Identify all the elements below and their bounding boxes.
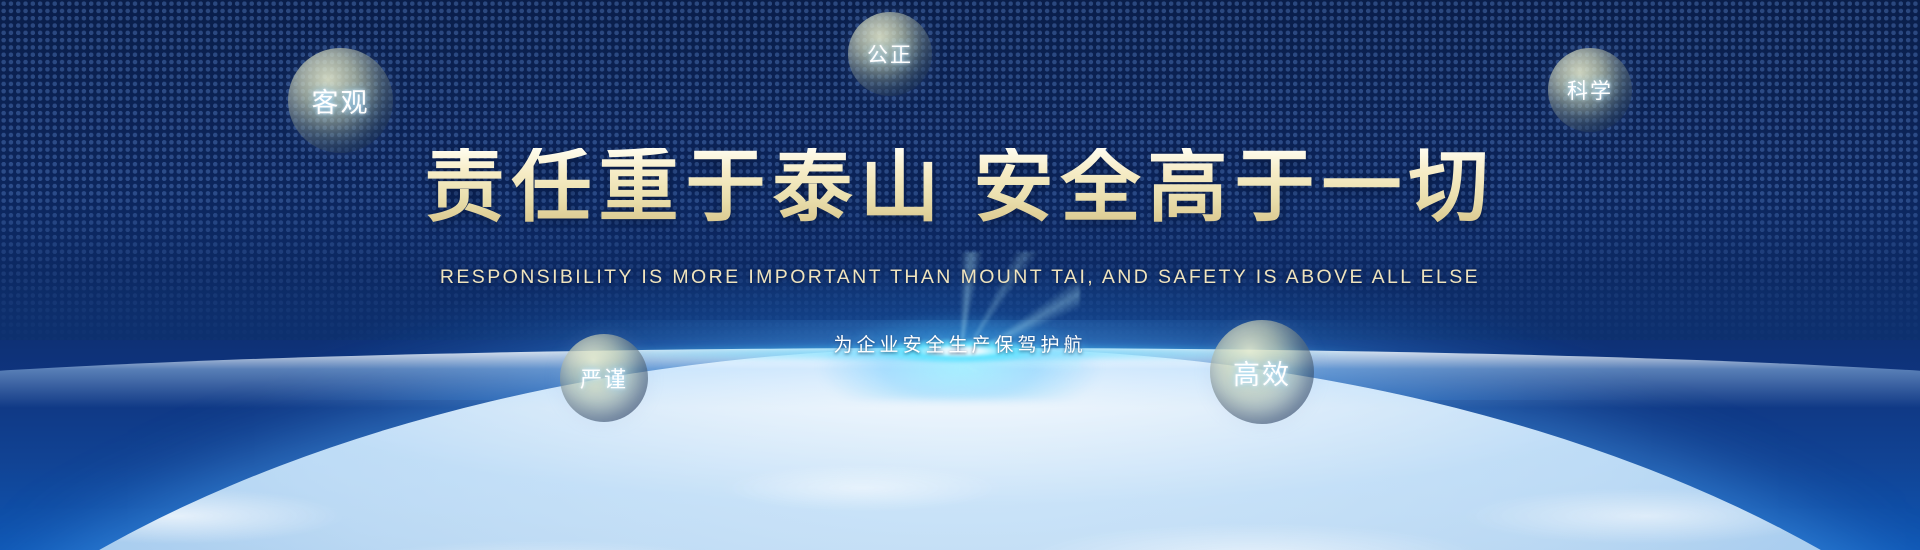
badge-label: 公正 xyxy=(867,39,913,69)
hero-banner: 责任重于泰山 安全高于一切 RESPONSIBILITY IS MORE IMP… xyxy=(0,0,1920,550)
badge-label: 客观 xyxy=(312,81,370,120)
subtitle-chinese: 为企业安全生产保驾护航 xyxy=(0,330,1920,357)
value-badge-keguan[interactable]: 客观 xyxy=(288,48,393,153)
value-badge-gaoxiao[interactable]: 高效 xyxy=(1210,320,1314,424)
badge-label: 高效 xyxy=(1233,353,1291,392)
value-badge-yanjin[interactable]: 严谨 xyxy=(560,334,648,422)
page-title: 责任重于泰山 安全高于一切 xyxy=(0,148,1920,228)
value-badge-kexue[interactable]: 科学 xyxy=(1548,48,1632,132)
subtitle-english: RESPONSIBILITY IS MORE IMPORTANT THAN MO… xyxy=(0,266,1920,289)
value-badge-gongzheng[interactable]: 公正 xyxy=(848,12,932,96)
badge-label: 科学 xyxy=(1567,75,1613,105)
headline-block: 责任重于泰山 安全高于一切 RESPONSIBILITY IS MORE IMP… xyxy=(0,0,1920,550)
badge-label: 严谨 xyxy=(580,362,628,394)
